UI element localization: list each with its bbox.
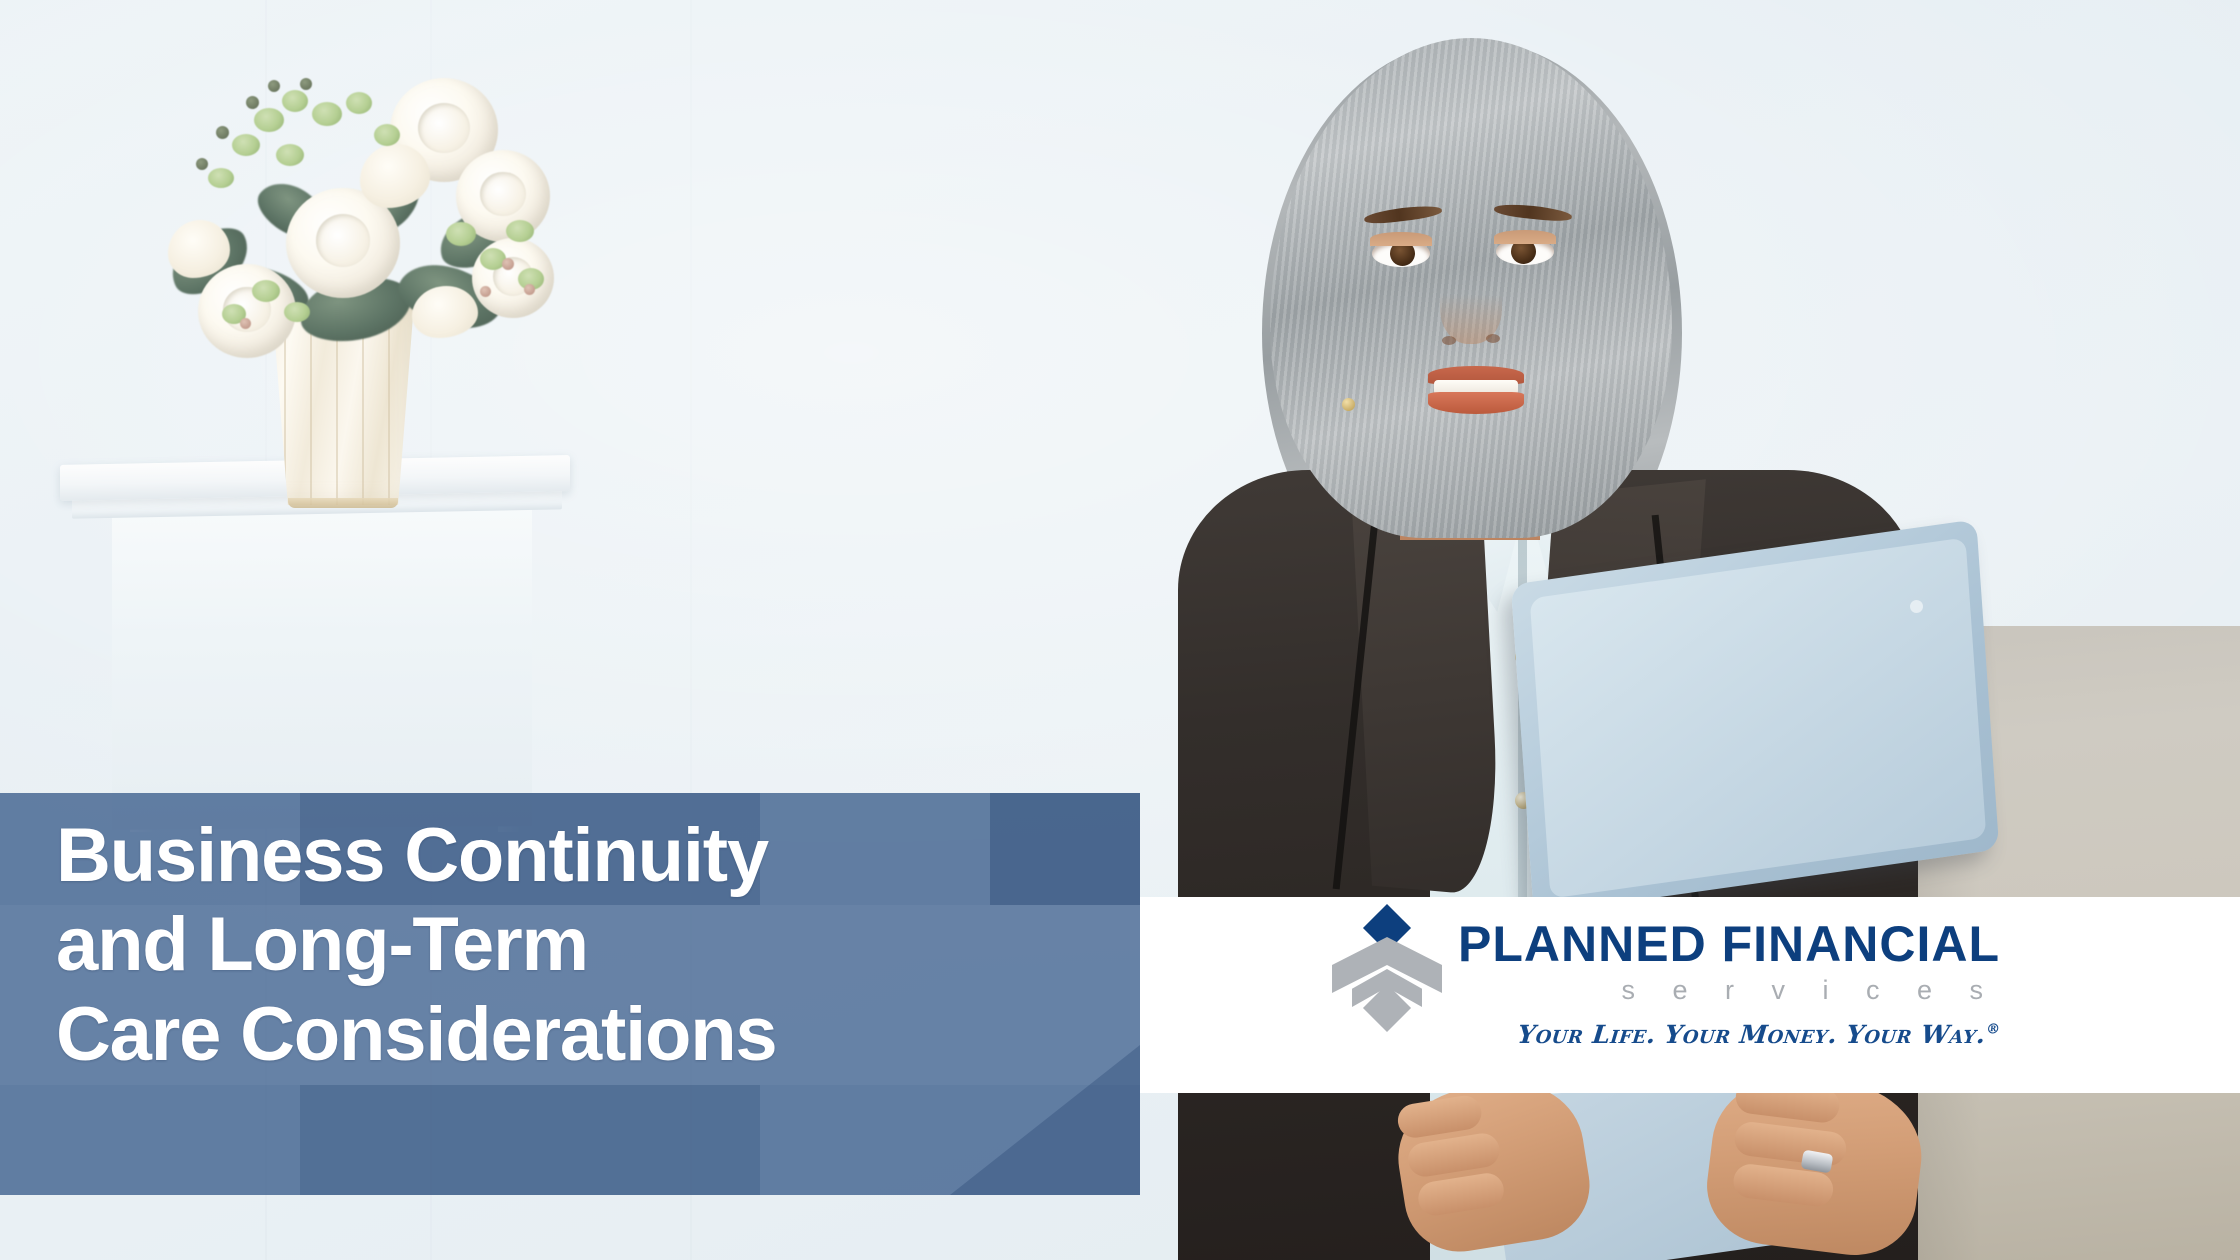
title-line-2: and Long-Term <box>56 900 1120 989</box>
nose <box>1440 268 1502 344</box>
overlay-tint <box>300 1085 760 1195</box>
logo-wordmark: PLANNED FINANCIAL s e r v i c e s Your L… <box>1458 911 2000 1049</box>
tagline-text: Your Life. Your Money. Your Way. <box>1516 1020 1987 1049</box>
registered-mark: ® <box>1985 1022 2001 1038</box>
earring <box>1342 398 1355 411</box>
logo-bar: PLANNED FINANCIAL s e r v i c e s Your L… <box>1140 897 2240 1093</box>
nostril-right <box>1486 334 1500 343</box>
side-table-body <box>112 506 532 830</box>
chevron-diamond-logo-icon <box>1332 911 1442 1029</box>
eyelid-right <box>1494 230 1556 244</box>
tablet-screen <box>1530 537 1987 898</box>
nostril-left <box>1442 336 1456 345</box>
title-overlay-panel: Business Continuity and Long-Term Care C… <box>0 793 1140 1195</box>
rose-bouquet <box>150 72 550 332</box>
page-title: Business Continuity and Long-Term Care C… <box>56 811 1120 1079</box>
company-subname: s e r v i c e s <box>1458 975 2000 1006</box>
eyelid-left <box>1370 232 1432 246</box>
title-line-1: Business Continuity <box>56 811 1120 900</box>
company-name: PLANNED FINANCIAL <box>1458 919 2000 969</box>
company-tagline: Your Life. Your Money. Your Way.® <box>1456 1020 2001 1049</box>
vase-base <box>288 498 398 508</box>
banner-image: Business Continuity and Long-Term Care C… <box>0 0 2240 1260</box>
lower-lip <box>1428 392 1524 414</box>
company-logo[interactable]: PLANNED FINANCIAL s e r v i c e s Your L… <box>1332 911 2000 1049</box>
title-line-3: Care Considerations <box>56 990 1120 1079</box>
